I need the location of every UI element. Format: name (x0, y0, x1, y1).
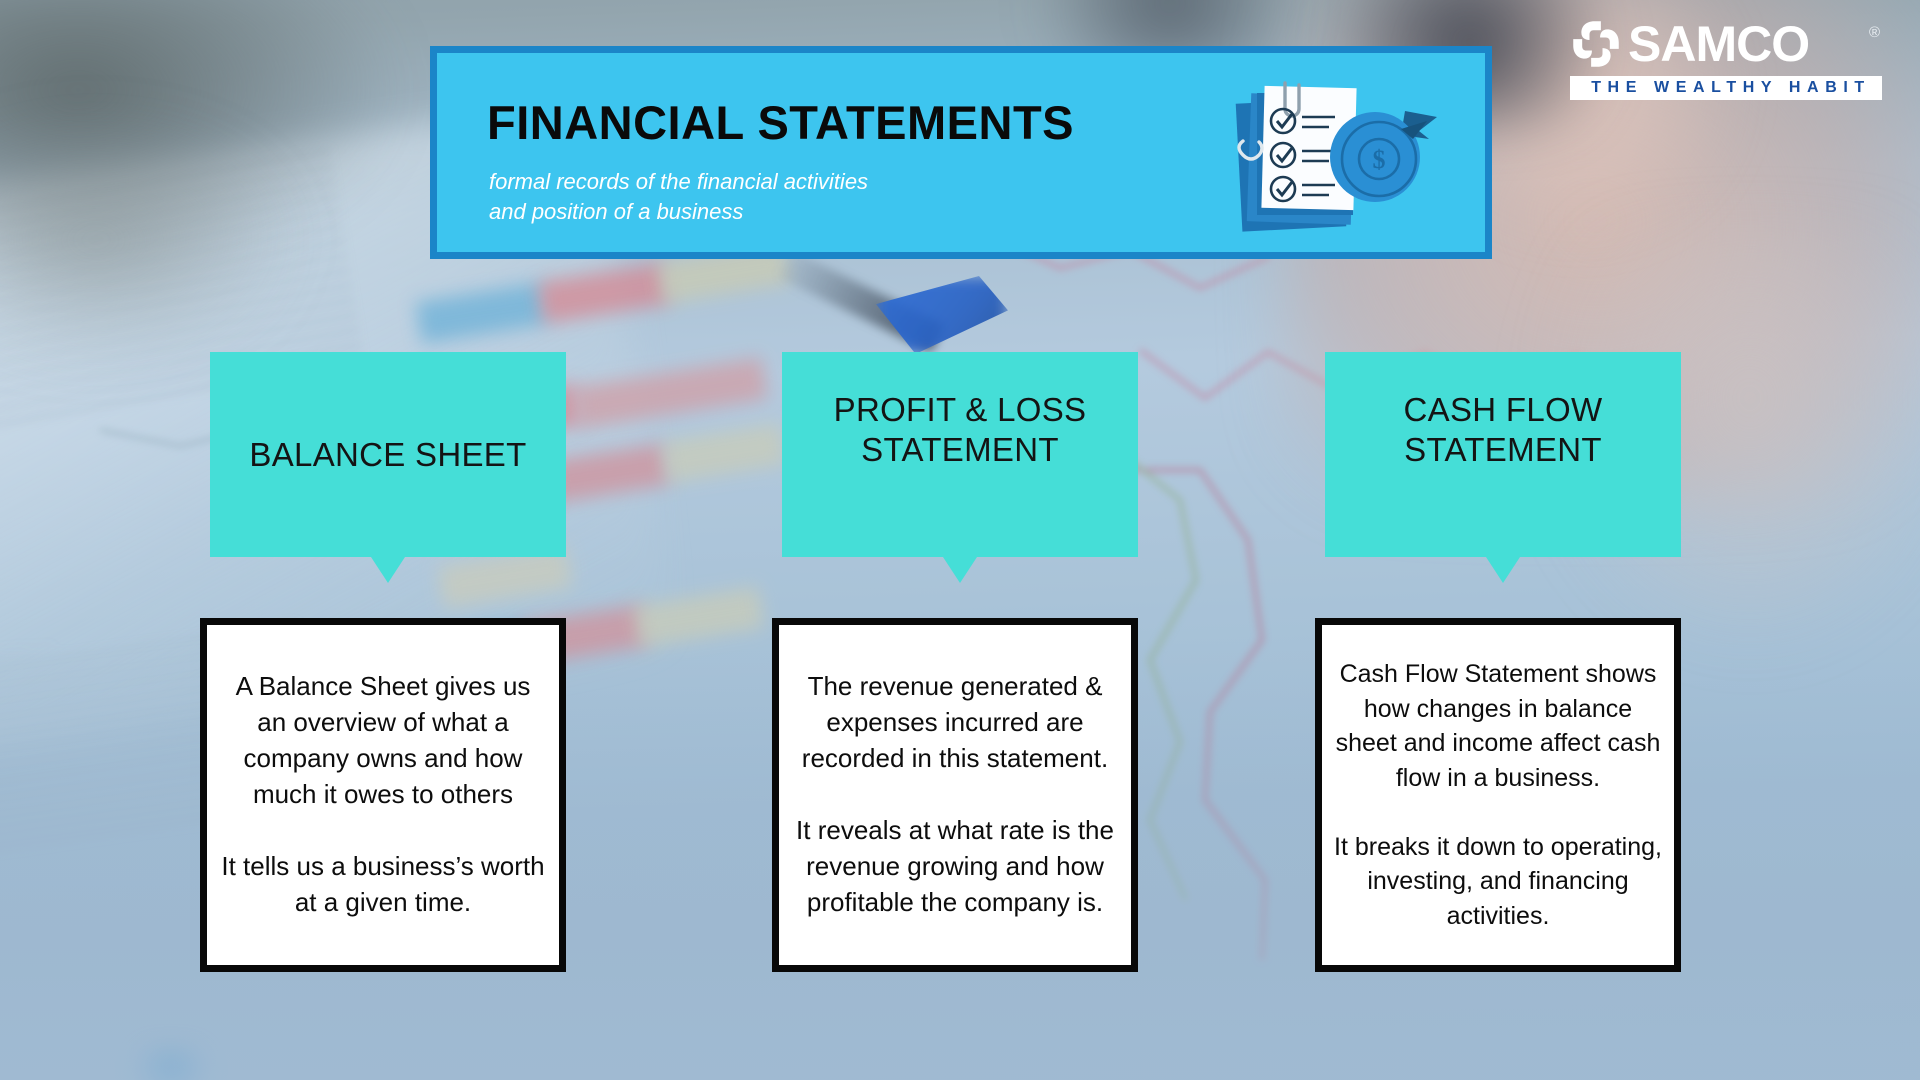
card-cash-flow-title: CASH FLOW STATEMENT (1404, 390, 1603, 469)
brand-logo: SAMCO ® THE WEALTHY HABIT (1570, 18, 1882, 100)
card-balance-sheet-title: BALANCE SHEET (249, 435, 526, 475)
card-profit-loss-header: PROFIT & LOSS STATEMENT (782, 352, 1138, 557)
logo-row: SAMCO (1570, 18, 1882, 70)
page-title: FINANCIAL STATEMENTS (487, 95, 1074, 150)
card-cash-flow: CASH FLOW STATEMENT Cash Flow Statement … (1325, 352, 1681, 557)
page-subtitle: formal records of the financial activiti… (489, 167, 868, 228)
card-profit-loss-description: The revenue generated & expenses incurre… (791, 669, 1119, 920)
card-balance-sheet-description: A Balance Sheet gives us an overview of … (219, 669, 547, 920)
registered-trademark-icon: ® (1869, 24, 1880, 41)
card-cash-flow-description: Cash Flow Statement shows how changes in… (1334, 657, 1662, 933)
samco-pinwheel-icon (1570, 18, 1622, 70)
card-cash-flow-body: Cash Flow Statement shows how changes in… (1315, 618, 1681, 972)
card-balance-sheet-header: BALANCE SHEET (210, 352, 566, 557)
card-cash-flow-pointer (1486, 557, 1520, 583)
card-balance-sheet-body: A Balance Sheet gives us an overview of … (200, 618, 566, 972)
card-profit-loss-title: PROFIT & LOSS STATEMENT (834, 390, 1087, 469)
logo-tagline: THE WEALTHY HABIT (1570, 76, 1882, 100)
card-profit-loss-body: The revenue generated & expenses incurre… (772, 618, 1138, 972)
card-cash-flow-header: CASH FLOW STATEMENT (1325, 352, 1681, 557)
card-profit-loss: PROFIT & LOSS STATEMENT The revenue gene… (782, 352, 1138, 557)
card-balance-sheet: BALANCE SHEET A Balance Sheet gives us a… (210, 352, 566, 557)
svg-text:$: $ (1373, 145, 1386, 174)
card-profit-loss-pointer (943, 557, 977, 583)
card-balance-sheet-pointer (371, 557, 405, 583)
logo-wordmark: SAMCO (1628, 19, 1809, 69)
checklist-document-with-target-icon: $ (1223, 69, 1453, 249)
header-banner: FINANCIAL STATEMENTS formal records of t… (430, 46, 1492, 259)
